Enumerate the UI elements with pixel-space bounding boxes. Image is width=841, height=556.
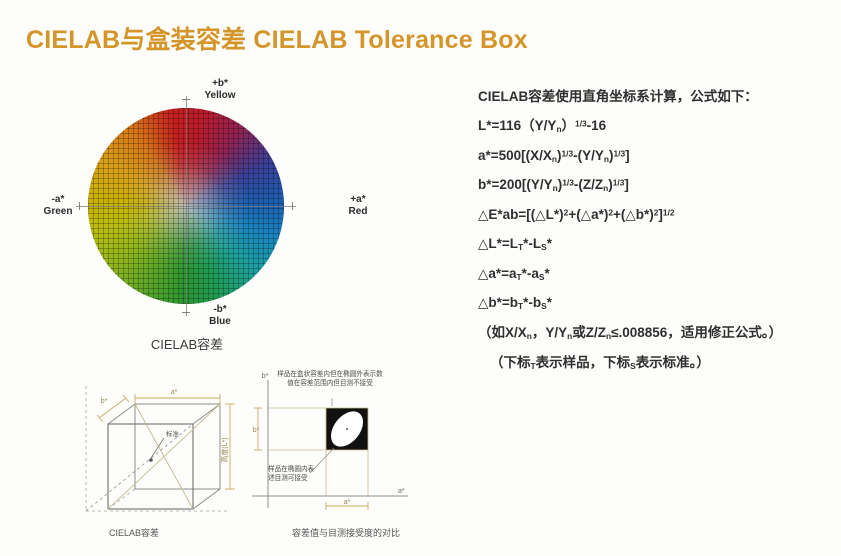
wheel-axis-name-right: Red — [322, 206, 394, 218]
wheel-tick-top — [182, 99, 190, 100]
cube-label-height: 高度(L*) — [220, 437, 229, 462]
wheel-axis-label-right: +a* Red — [322, 194, 394, 217]
ellipse-caption: 容差值与目测接受度的对比 — [256, 526, 436, 539]
formula-delta-l: △L*=LT*-LS* — [478, 237, 830, 252]
wheel-axis-symbol-top: +b* — [180, 78, 260, 90]
annotation-inside-ellipse: 样品在椭圆内表述目测可接受 — [268, 466, 320, 484]
wheel-axis-label-top: +b* Yellow — [180, 78, 260, 101]
tolerance-cube-svg: a* b* 高度(L*) 标准 — [24, 378, 239, 528]
ellipse-axis-label-a: a* — [398, 488, 405, 495]
cube-label-standard: 标准 — [166, 429, 180, 438]
wheel-axis-symbol-left: -a* — [22, 194, 94, 206]
wheel-vertical-axis — [186, 96, 187, 316]
tolerance-ellipse-figure: 样品在盒状容差内但在椭圆外表示数值在容差范围内但目测不接受 样品在椭圆内表述目测… — [248, 368, 448, 550]
ellipse-axis-label-b: b* — [262, 373, 269, 380]
cielab-color-wheel-figure: +b* Yellow -b* Blue -a* Green +a* Red — [22, 76, 422, 366]
formula-delta-a: △a*=aT*-aS* — [478, 267, 830, 282]
formula-b-star: b*=200[(Y/Yn)1/3-(Z/Zn)1/3] — [478, 178, 830, 193]
page-title: CIELAB与盒装容差 CIELAB Tolerance Box — [26, 20, 528, 56]
cube-label-b: b* — [101, 398, 108, 405]
wheel-axis-name-left: Green — [22, 206, 94, 218]
cube-caption: CIELAB容差 — [69, 526, 199, 539]
wheel-axis-symbol-bottom: -b* — [180, 304, 260, 316]
formula-a-star: a*=500[(X/Xn)1/3-(Y/Yn)1/3] — [478, 149, 830, 164]
wheel-axis-label-bottom: -b* Blue — [180, 304, 260, 327]
color-wheel-caption: CIELAB容差 — [122, 334, 252, 353]
color-wheel-axes-cross — [88, 108, 284, 304]
cube-standard-point — [149, 458, 153, 462]
wheel-tick-bottom — [182, 312, 190, 313]
tolerance-cube-figure: a* b* 高度(L*) 标准 CIELAB容差 — [24, 378, 239, 548]
formula-list: CIELAB容差使用直角坐标系计算，公式如下： L*=116（Y/Yn）1/3-… — [478, 90, 830, 385]
formula-note-correction: （如X/Xn，Y/Yn或Z/Zn≤.008856，适用修正公式。） — [478, 326, 830, 341]
wheel-tick-right — [292, 202, 293, 210]
formula-lightness: L*=116（Y/Yn）1/3-16 — [478, 119, 830, 134]
formula-delta-b: △b*=bT*-bS* — [478, 296, 830, 311]
ellipse-dim-label-a: a* — [344, 499, 351, 506]
formula-intro: CIELAB容差使用直角坐标系计算，公式如下： — [478, 90, 830, 104]
wheel-axis-symbol-right: +a* — [322, 194, 394, 206]
formula-delta-e: △E*ab=[(△L*)2+(△a*)2+(△b*)2]1/2 — [478, 208, 830, 222]
wheel-axis-name-bottom: Blue — [180, 316, 260, 328]
wheel-tick-left — [79, 202, 80, 210]
slide-canvas: CIELAB与盒装容差 CIELAB Tolerance Box +b* Yel… — [0, 0, 841, 556]
ellipse-center-point — [346, 428, 348, 430]
cube-label-a: a* — [171, 389, 178, 396]
color-wheel-graphic — [88, 108, 284, 304]
formula-note-subscripts: （下标T表示样品，下标S表示标准。） — [478, 356, 830, 371]
wheel-axis-name-top: Yellow — [180, 90, 260, 102]
ellipse-dim-label-b: b* — [253, 427, 260, 434]
annotation-outside-ellipse: 样品在盒状容差内但在椭圆外表示数值在容差范围内但目测不接受 — [276, 371, 384, 389]
tolerance-ellipse-svg: b* a* b* a* — [248, 368, 448, 523]
